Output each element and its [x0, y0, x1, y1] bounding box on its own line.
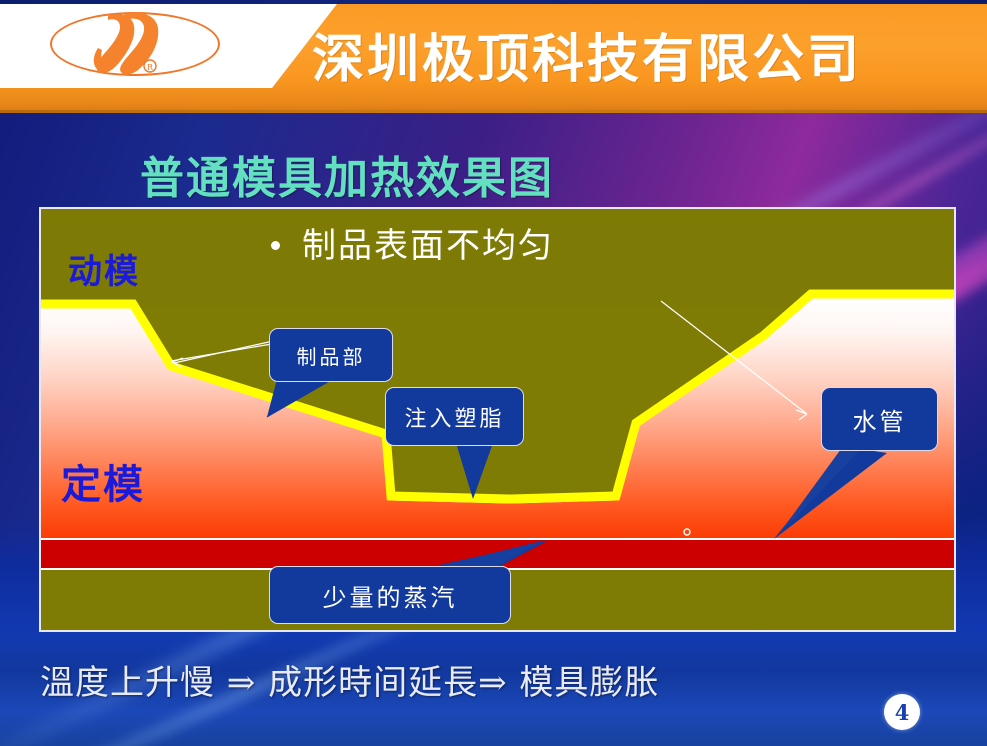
presentation-slide: R 深圳极顶科技有限公司 普通模具加热效果图	[0, 0, 987, 746]
header-top-rule	[0, 0, 987, 4]
callout-water-pipe[interactable]: 水管	[821, 387, 938, 451]
callout-product-part[interactable]: 制品部	[269, 328, 393, 382]
jiding-logo: R	[46, 8, 226, 82]
callout-small-steam[interactable]: 少量的蒸汽	[269, 566, 511, 624]
slide-title: 普通模具加热效果图	[140, 142, 554, 206]
logo-monogram-icon: R	[46, 8, 226, 82]
page-number-badge: 4	[884, 694, 920, 730]
header-banner: R 深圳极顶科技有限公司	[0, 0, 987, 113]
company-title: 深圳极顶科技有限公司	[312, 14, 912, 94]
header-bottom-rule	[0, 110, 987, 113]
slide-caption: 溫度上升慢 ⇒ 成形時间延長⇒ 模具膨胀	[40, 655, 659, 704]
mold-heating-diagram: 制品表面不均匀 动模 定模 制品部 注入塑脂 水管 少量的蒸汽	[39, 207, 956, 632]
svg-text:R: R	[147, 63, 154, 72]
callout-resin-injection[interactable]: 注入塑脂	[385, 387, 524, 446]
